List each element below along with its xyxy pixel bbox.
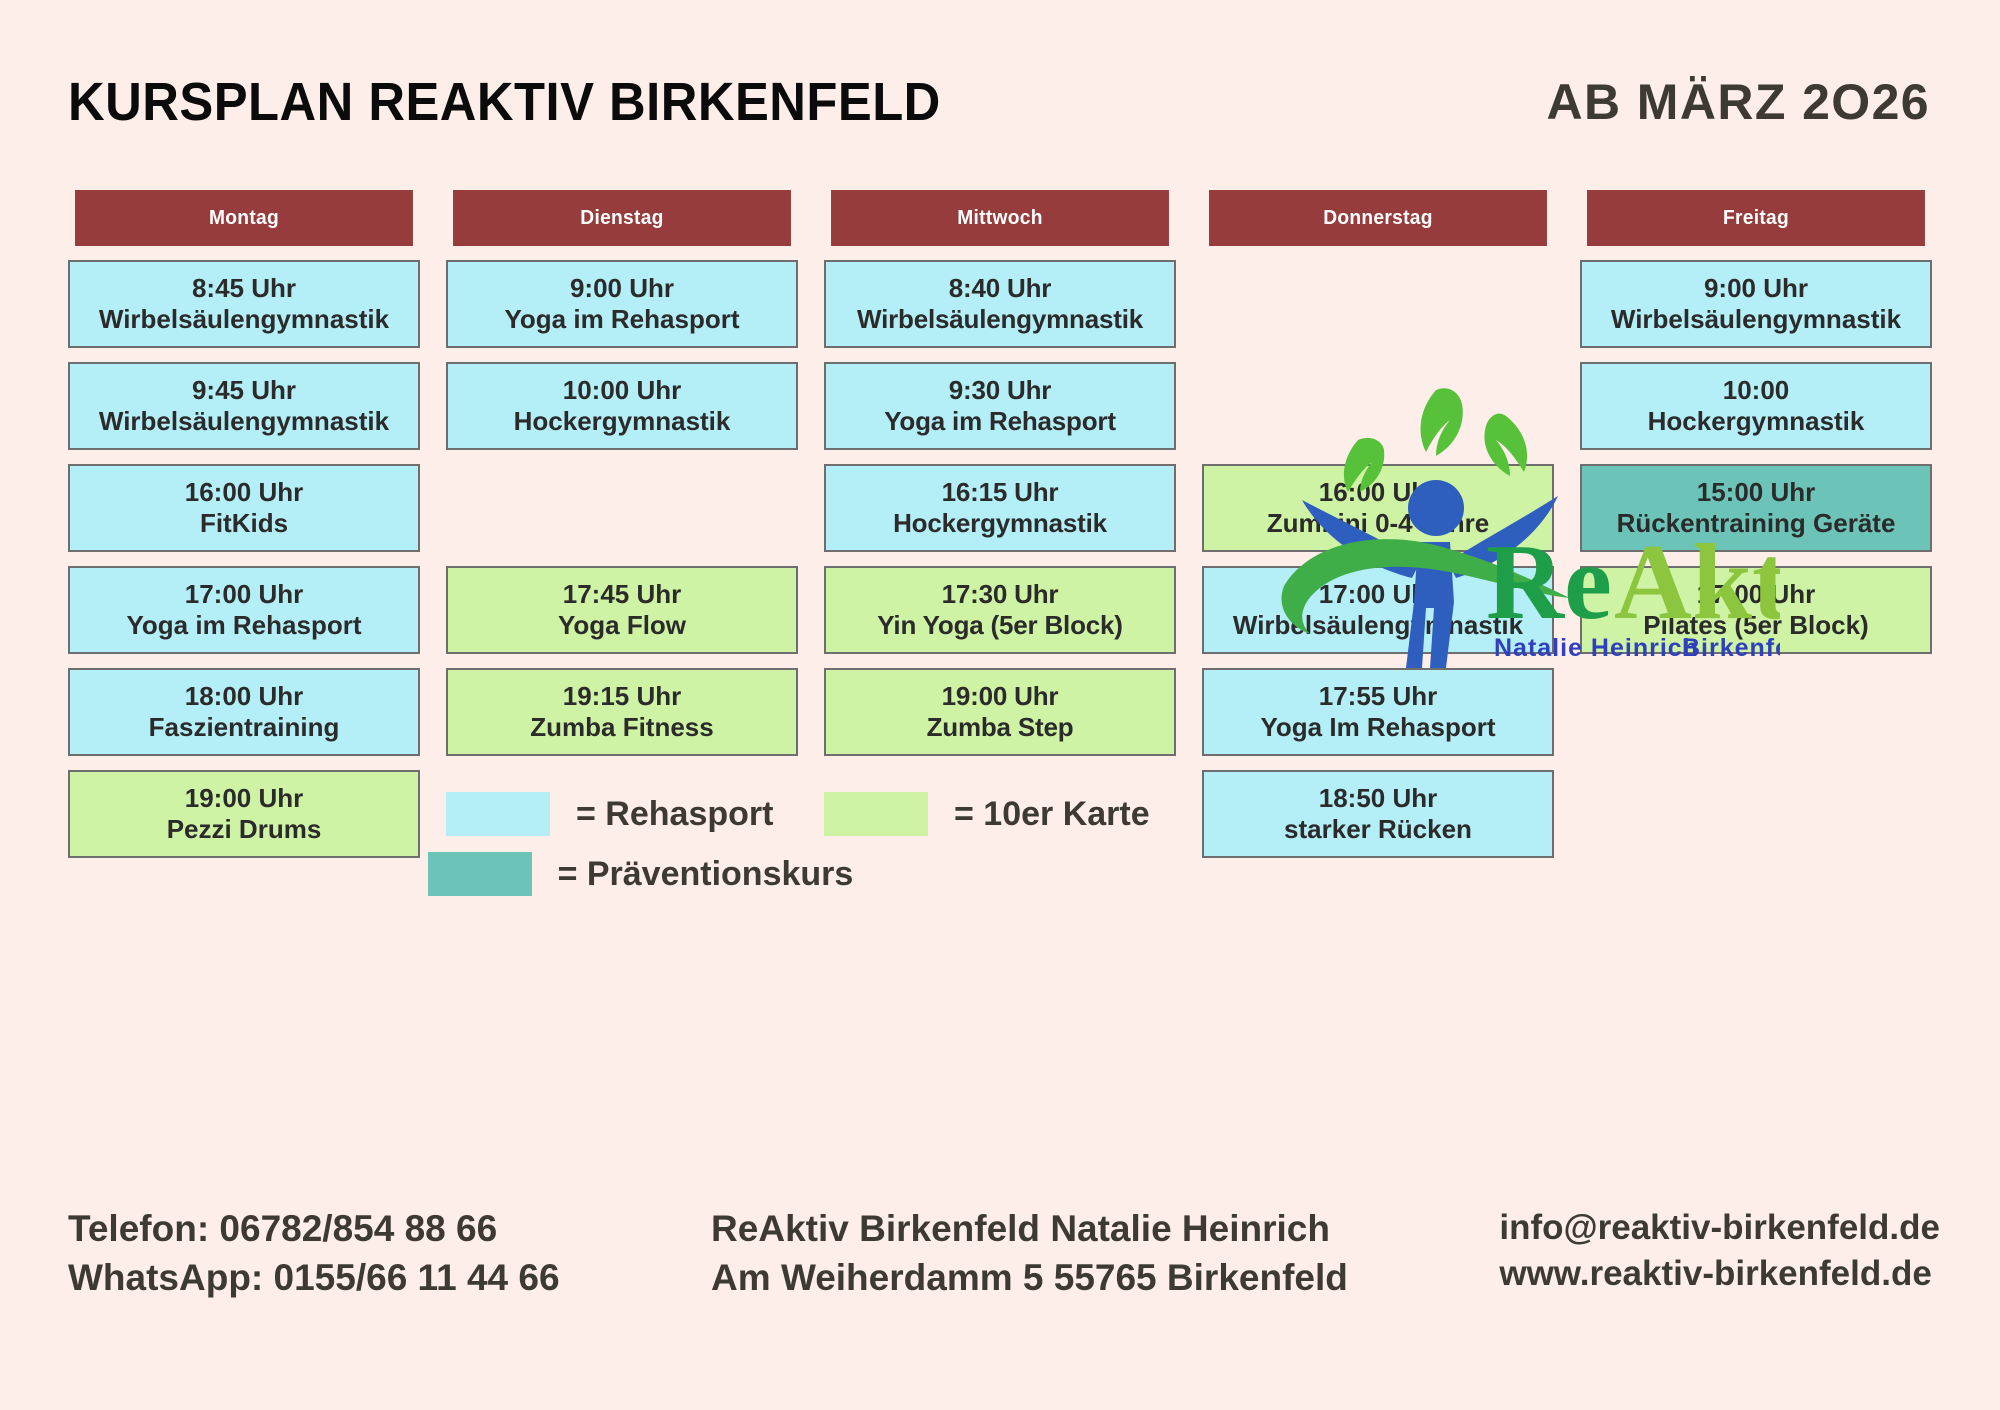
day-header-montag: Montag	[75, 190, 413, 246]
website-url[interactable]: www.reaktiv-birkenfeld.de	[1499, 1251, 1940, 1297]
empty-slot	[1580, 668, 1932, 756]
course-name: Zumba Fitness	[530, 712, 713, 743]
course-time: 10:00	[1723, 375, 1790, 406]
course-time: 8:45 Uhr	[192, 273, 296, 304]
course-time: 17:00 Uhr	[1697, 579, 1816, 610]
course-name: Pilates (5er Block)	[1643, 610, 1868, 641]
kursplan-poster: KURSPLAN REAKTIV BIRKENFELD AB MÄRZ 2O26…	[0, 0, 2000, 1410]
course-time: 16:15 Uhr	[942, 477, 1059, 508]
course-name: Yoga im Rehasport	[126, 610, 361, 641]
phone-number: Telefon: 06782/854 88 66	[68, 1205, 560, 1254]
schedule-grid: MontagDienstagMittwochDonnerstagFreitag …	[68, 190, 1932, 928]
course-cell[interactable]: 19:00 UhrZumba Step	[824, 668, 1176, 756]
legend-swatch-rehasport	[446, 792, 550, 836]
footer-phone: Telefon: 06782/854 88 66 WhatsApp: 0155/…	[68, 1205, 560, 1303]
page-title: KURSPLAN REAKTIV BIRKENFELD	[68, 71, 941, 133]
course-time: 19:00 Uhr	[942, 681, 1059, 712]
empty-slot	[68, 872, 402, 928]
course-cell[interactable]: 17:00 UhrYoga im Rehasport	[68, 566, 420, 654]
course-name: Hockergymnastik	[1648, 406, 1865, 437]
schedule-row: 18:00 UhrFaszientraining19:15 UhrZumba F…	[68, 668, 1932, 756]
course-cell[interactable]: 10:00Hockergymnastik	[1580, 362, 1932, 450]
course-cell[interactable]: 18:00 UhrFaszientraining	[68, 668, 420, 756]
legend-swatch-praeventionskurs	[428, 852, 532, 896]
course-time: 17:00 Uhr	[1319, 579, 1438, 610]
morning-block: 8:45 UhrWirbelsäulengymnastik9:00 UhrYog…	[68, 260, 1932, 464]
whatsapp-number: WhatsApp: 0155/66 11 44 66	[68, 1254, 560, 1303]
course-name: Yoga Im Rehasport	[1260, 712, 1495, 743]
legend-item: = Rehasport	[446, 770, 798, 858]
day-header-freitag: Freitag	[1587, 190, 1925, 246]
course-cell[interactable]: 19:15 UhrZumba Fitness	[446, 668, 798, 756]
footer-web: info@reaktiv-birkenfeld.de www.reaktiv-b…	[1499, 1205, 1940, 1297]
schedule-row: 17:00 UhrYoga im Rehasport17:45 UhrYoga …	[68, 566, 1932, 654]
course-cell[interactable]: 16:15 UhrHockergymnastik	[824, 464, 1176, 552]
course-cell[interactable]: 8:40 UhrWirbelsäulengymnastik	[824, 260, 1176, 348]
course-time: 8:40 Uhr	[949, 273, 1051, 304]
course-cell[interactable]: 9:00 UhrWirbelsäulengymnastik	[1580, 260, 1932, 348]
legend-label: = Rehasport	[576, 795, 773, 834]
email-address[interactable]: info@reaktiv-birkenfeld.de	[1499, 1205, 1940, 1251]
course-time: 19:00 Uhr	[185, 783, 304, 814]
course-cell[interactable]: 16:00 UhrZumbini 0-4 Jahre	[1202, 464, 1554, 552]
empty-slot	[446, 464, 798, 552]
business-name: ReAktiv Birkenfeld Natalie Heinrich	[711, 1205, 1348, 1254]
legend-item: = 10er Karte	[824, 770, 1176, 858]
schedule-row: 9:45 UhrWirbelsäulengymnastik10:00 UhrHo…	[68, 362, 1932, 450]
course-time: 9:30 Uhr	[949, 375, 1051, 406]
empty-slot	[1202, 260, 1554, 348]
course-name: FitKids	[200, 508, 288, 539]
course-time: 19:15 Uhr	[563, 681, 682, 712]
schedule-row: 8:45 UhrWirbelsäulengymnastik9:00 UhrYog…	[68, 260, 1932, 348]
course-cell[interactable]: 17:00 UhrPilates (5er Block)	[1580, 566, 1932, 654]
course-name: Wirbelsäulengymnastik	[99, 406, 389, 437]
afternoon-block: 16:00 UhrFitKids16:15 UhrHockergymnastik…	[68, 464, 1932, 928]
course-cell[interactable]: 9:30 UhrYoga im Rehasport	[824, 362, 1176, 450]
course-time: 17:45 Uhr	[563, 579, 682, 610]
course-time: 9:00 Uhr	[570, 273, 674, 304]
course-name: Wirbelsäulengymnastik	[857, 304, 1143, 335]
course-name: starker Rücken	[1284, 814, 1472, 845]
poster-header: KURSPLAN REAKTIV BIRKENFELD AB MÄRZ 2O26	[68, 62, 1930, 142]
course-cell[interactable]: 10:00 UhrHockergymnastik	[446, 362, 798, 450]
course-cell[interactable]: 15:00 UhrRückentraining Geräte	[1580, 464, 1932, 552]
course-name: Yoga im Rehasport	[884, 406, 1116, 437]
course-name: Zumbini 0-4 Jahre	[1267, 508, 1490, 539]
course-time: 17:55 Uhr	[1319, 681, 1438, 712]
course-cell[interactable]: 19:00 UhrPezzi Drums	[68, 770, 420, 858]
course-cell[interactable]: 17:55 UhrYoga Im Rehasport	[1202, 668, 1554, 756]
legend-row: = Präventionskurs	[68, 872, 1932, 928]
empty-slot	[1580, 770, 1932, 858]
course-cell[interactable]: 9:00 UhrYoga im Rehasport	[446, 260, 798, 348]
day-header-mittwoch: Mittwoch	[831, 190, 1169, 246]
course-time: 17:00 Uhr	[185, 579, 304, 610]
course-cell[interactable]: 8:45 UhrWirbelsäulengymnastik	[68, 260, 420, 348]
course-time: 15:00 Uhr	[1697, 477, 1816, 508]
schedule-row: 16:00 UhrFitKids16:15 UhrHockergymnastik…	[68, 464, 1932, 552]
course-time: 16:00 Uhr	[1319, 477, 1438, 508]
course-cell[interactable]: 17:45 UhrYoga Flow	[446, 566, 798, 654]
empty-slot	[1598, 872, 1932, 928]
course-time: 18:50 Uhr	[1319, 783, 1438, 814]
course-name: Wirbelsäulengymnastik	[1611, 304, 1901, 335]
legend-label: = 10er Karte	[954, 795, 1150, 834]
course-time: 18:00 Uhr	[185, 681, 304, 712]
course-time: 9:00 Uhr	[1704, 273, 1808, 304]
empty-slot	[879, 872, 1213, 928]
empty-slot	[1202, 362, 1554, 450]
day-header-dienstag: Dienstag	[453, 190, 791, 246]
course-time: 10:00 Uhr	[563, 375, 682, 406]
course-name: Faszientraining	[149, 712, 340, 743]
legend-swatch-zehner_karte	[824, 792, 928, 836]
course-name: Zumba Step	[927, 712, 1074, 743]
street-address: Am Weiherdamm 5 55765 Birkenfeld	[711, 1254, 1348, 1303]
course-name: Rückentraining Geräte	[1617, 508, 1896, 539]
course-name: Yin Yoga (5er Block)	[877, 610, 1122, 641]
empty-slot	[1239, 872, 1573, 928]
course-name: Hockergymnastik	[514, 406, 731, 437]
day-header-donnerstag: Donnerstag	[1209, 190, 1547, 246]
legend-label: = Präventionskurs	[558, 855, 854, 894]
schedule-row: 19:00 UhrPezzi Drums= Rehasport= 10er Ka…	[68, 770, 1932, 858]
footer-address: ReAktiv Birkenfeld Natalie Heinrich Am W…	[711, 1205, 1348, 1303]
legend-item: = Präventionskurs	[428, 846, 854, 902]
course-name: Hockergymnastik	[893, 508, 1107, 539]
validity-period: AB MÄRZ 2O26	[1546, 73, 1930, 131]
course-time: 16:00 Uhr	[185, 477, 304, 508]
course-cell[interactable]: 17:00 UhrWirbelsäulengymnastik	[1202, 566, 1554, 654]
course-cell[interactable]: 17:30 UhrYin Yoga (5er Block)	[824, 566, 1176, 654]
course-cell[interactable]: 18:50 Uhrstarker Rücken	[1202, 770, 1554, 858]
course-name: Wirbelsäulengymnastik	[99, 304, 389, 335]
course-name: Yoga Flow	[558, 610, 686, 641]
course-cell[interactable]: 9:45 UhrWirbelsäulengymnastik	[68, 362, 420, 450]
footer-contact: Telefon: 06782/854 88 66 WhatsApp: 0155/…	[68, 1205, 1940, 1303]
day-header-row: MontagDienstagMittwochDonnerstagFreitag	[68, 190, 1932, 246]
course-name: Pezzi Drums	[167, 814, 322, 845]
course-time: 9:45 Uhr	[192, 375, 296, 406]
course-name: Yoga im Rehasport	[504, 304, 739, 335]
course-time: 17:30 Uhr	[942, 579, 1059, 610]
course-cell[interactable]: 16:00 UhrFitKids	[68, 464, 420, 552]
course-name: Wirbelsäulengymnastik	[1233, 610, 1523, 641]
